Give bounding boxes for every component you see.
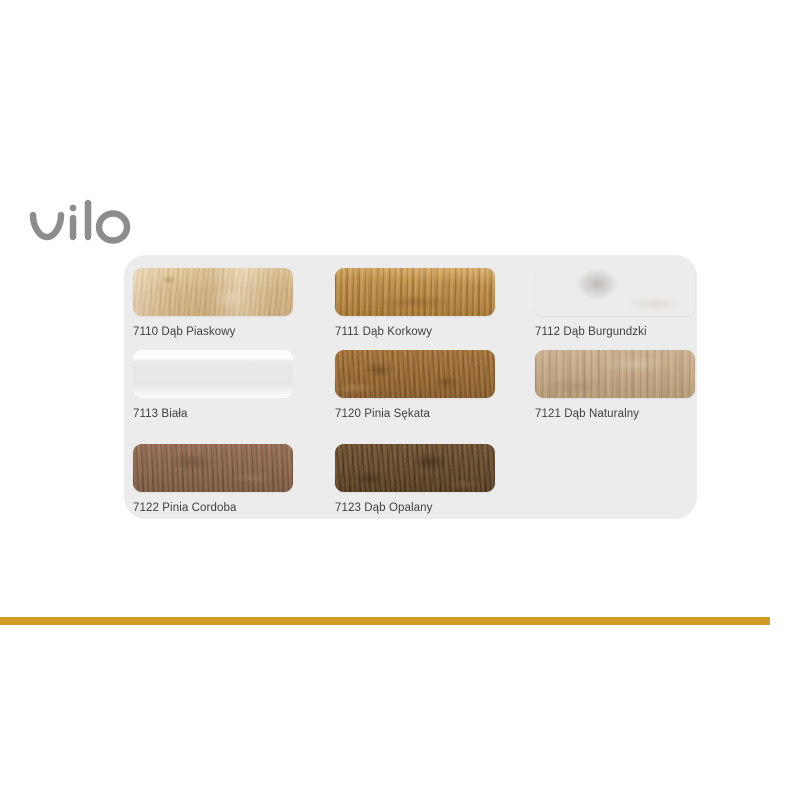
vilo-logo [28, 196, 138, 252]
swatch-label: 7122 Pinia Cordoba [133, 502, 293, 515]
logo-dot-icon [70, 205, 77, 212]
swatch-7120[interactable]: 7120 Pinia Sękata [335, 350, 495, 421]
swatch-label: 7123 Dąb Opalany [335, 502, 495, 515]
accent-bar [0, 617, 770, 625]
wood-grain-highlight [335, 268, 495, 316]
swatch-label: 7121 Dąb Naturalny [535, 408, 695, 421]
wood-grain-figure [535, 268, 695, 316]
swatch-chip-7111[interactable] [335, 268, 495, 316]
logo-o-icon [99, 214, 127, 241]
swatch-chip-7110[interactable] [133, 268, 293, 316]
swatch-chip-7112[interactable] [535, 268, 695, 316]
swatch-chip-7123[interactable] [335, 444, 495, 492]
swatch-chip-7122[interactable] [133, 444, 293, 492]
swatch-label: 7113 Biała [133, 408, 293, 421]
swatch-7112[interactable]: 7112 Dąb Burgundzki [535, 268, 695, 339]
swatch-chip-7113[interactable] [133, 350, 293, 398]
wood-grain-knot [335, 444, 495, 492]
swatch-7111[interactable]: 7111 Dąb Korkowy [335, 268, 495, 339]
wood-grain-knot [335, 350, 495, 398]
vilo-wordmark-icon [28, 196, 138, 252]
swatch-7121[interactable]: 7121 Dąb Naturalny [535, 350, 695, 421]
wood-grain-knot [133, 268, 293, 316]
swatch-7110[interactable]: 7110 Dąb Piaskowy [133, 268, 293, 339]
swatch-label: 7112 Dąb Burgundzki [535, 326, 695, 339]
swatch-label: 7111 Dąb Korkowy [335, 326, 495, 339]
wood-grain-figure [535, 350, 695, 398]
swatch-grid: 7110 Dąb Piaskowy 7111 Dąb Korkowy 7112 … [133, 268, 703, 518]
swatch-7122[interactable]: 7122 Pinia Cordoba [133, 444, 293, 515]
swatch-label: 7110 Dąb Piaskowy [133, 326, 293, 339]
swatch-chip-7121[interactable] [535, 350, 695, 398]
wood-grain-figure [133, 444, 293, 492]
swatch-label: 7120 Pinia Sękata [335, 408, 495, 421]
swatch-chip-7120[interactable] [335, 350, 495, 398]
swatch-7113[interactable]: 7113 Biała [133, 350, 293, 421]
swatch-7123[interactable]: 7123 Dąb Opalany [335, 444, 495, 515]
